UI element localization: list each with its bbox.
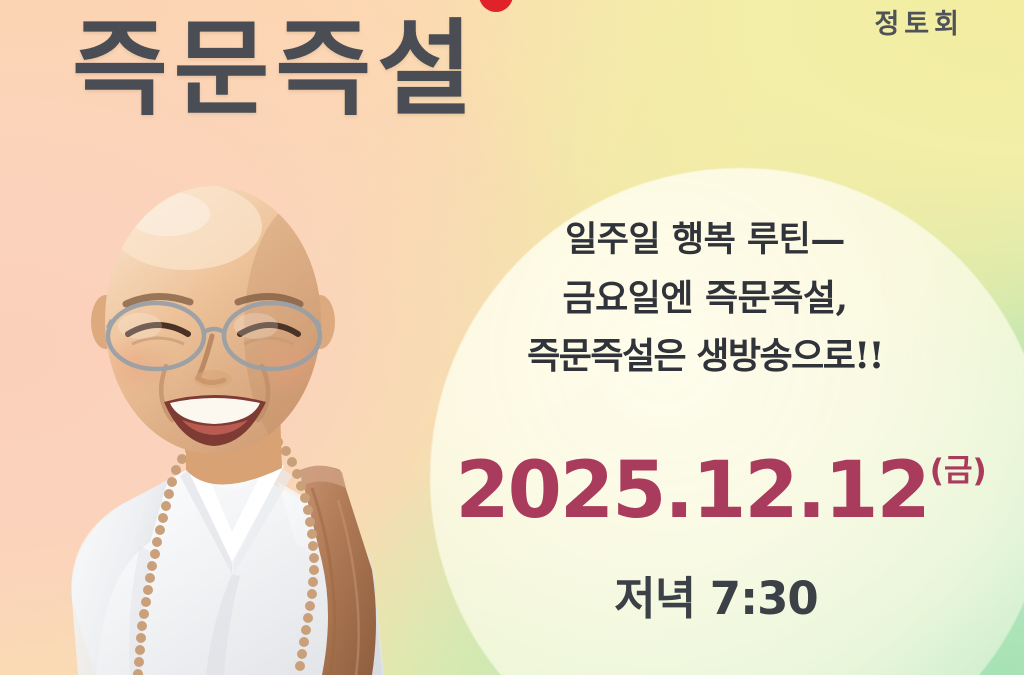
red-dot-icon xyxy=(479,0,513,12)
speaker-portrait xyxy=(0,170,470,675)
event-date-weekday: (금) xyxy=(930,456,987,487)
tagline-line-1: 일주일 행복 루틴— xyxy=(470,212,940,269)
tagline-line-2: 금요일엔 즉문즉설, xyxy=(470,269,940,327)
monk-head xyxy=(91,182,368,462)
event-time: 저녁 7:30 xyxy=(436,562,996,627)
brand-name: 정토회 xyxy=(874,2,964,41)
tagline-block: 일주일 행복 루틴— 금요일엔 즉문즉설, 즉문즉설은 생방송으로!! xyxy=(470,212,940,385)
tagline-line-3: 즉문즉설은 생방송으로!! xyxy=(470,327,940,385)
event-date-value: 2025.12.12 xyxy=(455,452,928,530)
poster-canvas: 즉문즉설 정토회 일주일 행복 루틴— 금요일엔 즉문즉설, 즉문즉설은 생방송… xyxy=(0,0,1024,675)
page-title: 즉문즉설 xyxy=(72,14,479,123)
event-date: 2025.12.12 (금) xyxy=(436,452,1006,530)
